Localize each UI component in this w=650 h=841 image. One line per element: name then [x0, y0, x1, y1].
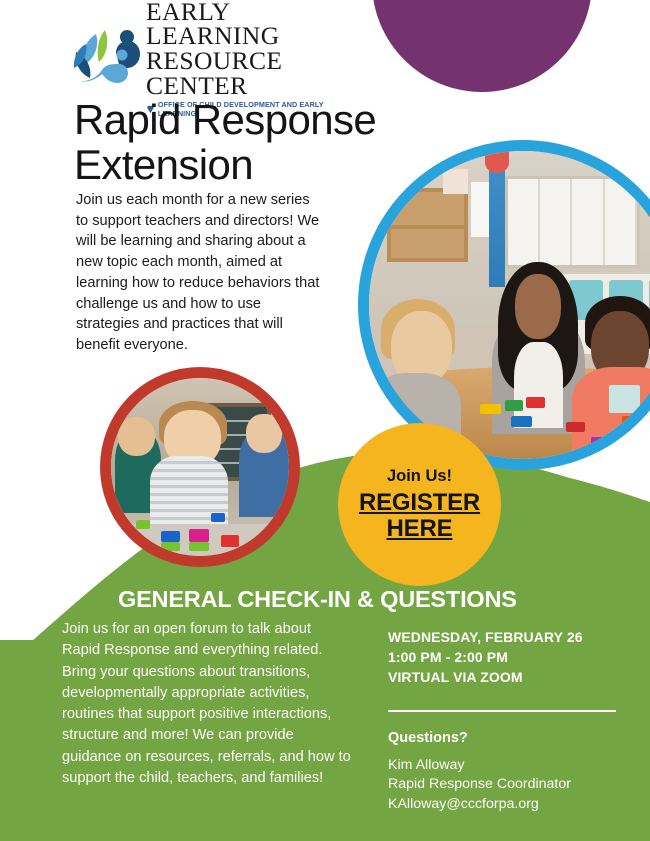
event-date: WEDNESDAY, FEBRUARY 26 [388, 628, 620, 648]
contact-block: Kim Alloway Rapid Response Coordinator K… [388, 756, 620, 815]
register-cta-circle[interactable]: Join Us! REGISTER HERE [338, 423, 501, 586]
register-here-link[interactable]: REGISTER HERE [359, 490, 480, 541]
event-location: VIRTUAL VIA ZOOM [388, 668, 620, 688]
logo-line-1: EARLY LEARNING [146, 0, 362, 49]
smiling-toddler-photo [100, 367, 300, 567]
register-link-line-1: REGISTER [359, 489, 480, 516]
leaves-and-caregiver-child-logo-mark [72, 26, 142, 92]
organization-logo: EARLY LEARNING RESOURCE CENTER OFFICE OF… [72, 24, 362, 94]
section-divider [388, 710, 616, 712]
toddler-with-blocks-illustration [111, 378, 289, 556]
register-link-line-2: HERE [387, 515, 453, 542]
questions-heading: Questions? [388, 730, 620, 746]
session-description: Join us for an open forum to talk about … [62, 619, 352, 789]
intro-paragraph: Join us each month for a new series to s… [76, 190, 324, 356]
join-us-label: Join Us! [387, 467, 452, 486]
section-title: GENERAL CHECK-IN & QUESTIONS [118, 586, 517, 613]
contact-name: Kim Alloway [388, 756, 620, 776]
teacher-and-children-photo [358, 140, 650, 470]
classroom-scene-illustration [369, 151, 650, 459]
event-details-column: WEDNESDAY, FEBRUARY 26 1:00 PM - 2:00 PM… [388, 628, 620, 814]
event-when-block: WEDNESDAY, FEBRUARY 26 1:00 PM - 2:00 PM… [388, 628, 620, 688]
logo-line-2: RESOURCE CENTER [146, 49, 362, 98]
contact-email[interactable]: KAlloway@cccforpa.org [388, 795, 620, 815]
event-time: 1:00 PM - 2:00 PM [388, 648, 620, 668]
page-title-line-1: Rapid Response [74, 98, 434, 143]
contact-role: Rapid Response Coordinator [388, 775, 620, 795]
